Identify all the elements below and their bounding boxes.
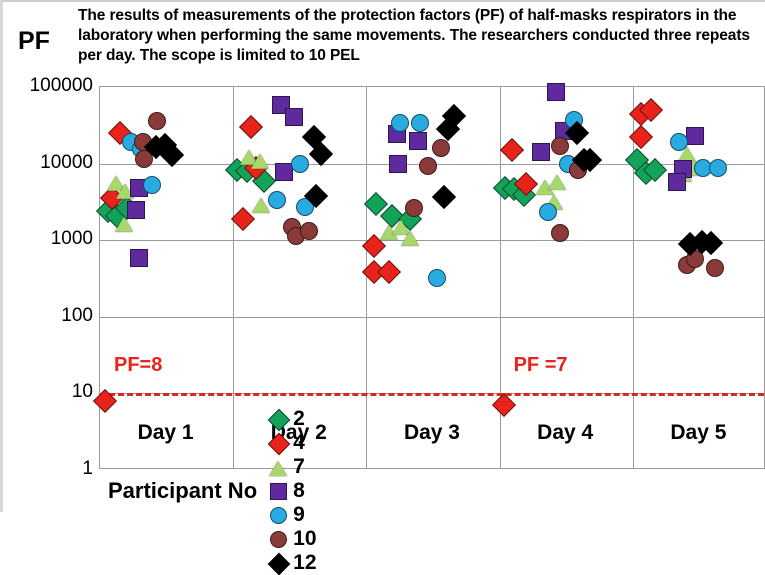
data-point-p9-d3-8 (428, 269, 446, 287)
legend-item-12[interactable]: 12 (269, 551, 316, 575)
legend-swatch-circle-icon (269, 506, 287, 524)
y-tick-1000: 1000 (51, 228, 93, 250)
data-point-p7-d2-4 (251, 154, 269, 169)
legend: Participant No 247891012 (108, 473, 332, 509)
day-separator-1 (233, 87, 234, 468)
data-point-p4-d2-3 (238, 115, 262, 139)
data-point-p10-d3-8 (405, 199, 423, 217)
legend-label-2: 2 (293, 407, 305, 431)
legend-item-4[interactable]: 4 (269, 431, 316, 455)
legend-item-7[interactable]: 7 (269, 455, 316, 479)
legend-title: Participant No (108, 478, 257, 504)
pf-8-annotation: PF=8 (114, 354, 162, 377)
data-point-p4-d2-5 (230, 207, 254, 231)
plot-area: PF=8PF =7 (99, 86, 765, 469)
legend-swatch-diamond-icon (269, 434, 287, 452)
data-point-p9-d1-2 (143, 176, 161, 194)
data-point-p9-d2-4 (268, 191, 286, 209)
chart-root: The results of measurements of the prote… (0, 0, 765, 512)
data-point-p9-d3-7 (411, 114, 429, 132)
data-point-p8-d5-12 (686, 127, 704, 145)
data-point-p8-d4-11 (532, 143, 550, 161)
legend-label-12: 12 (293, 551, 316, 575)
pf-7-annotation: PF =7 (514, 354, 568, 377)
y-tick-100000: 100000 (30, 75, 93, 97)
legend-label-8: 8 (293, 479, 305, 503)
day-label-4: Day 4 (499, 421, 632, 445)
legend-label-9: 9 (293, 503, 305, 527)
data-point-p8-d2-4 (285, 108, 303, 126)
data-point-p10-d3-6 (419, 157, 437, 175)
data-point-p7-d4-10 (548, 175, 566, 190)
legend-swatch-diamond-icon (269, 554, 287, 572)
data-point-p10-d4-9 (551, 137, 569, 155)
legend-item-2[interactable]: 2 (269, 407, 316, 431)
data-point-p9-d2-3 (291, 155, 309, 173)
gridline-100 (100, 317, 764, 318)
data-point-p10-d4-11 (551, 224, 569, 242)
data-point-p9-d3-6 (391, 114, 409, 132)
data-point-p8-d1-1 (127, 201, 145, 219)
y-axis-tick-labels: 110100100010000100000 (0, 0, 93, 512)
gridline-1000 (100, 240, 764, 241)
day-separator-4 (633, 87, 634, 468)
data-point-p4-d1-2 (93, 389, 117, 413)
legend-items: 247891012 (269, 407, 331, 575)
data-point-p4-d3-8 (377, 259, 401, 283)
legend-swatch-triangle-icon (269, 458, 287, 476)
data-point-p4-d4-9 (500, 138, 524, 162)
day-label-5: Day 5 (632, 421, 765, 445)
data-point-p9-d5-12 (670, 133, 688, 151)
legend-item-8[interactable]: 8 (269, 479, 316, 503)
data-point-p8-d4-9 (547, 83, 565, 101)
data-point-p10-d3-7 (432, 139, 450, 157)
data-point-p10-d1-0 (148, 112, 166, 130)
legend-item-10[interactable]: 10 (269, 527, 316, 551)
data-point-p9-d5-14 (709, 159, 727, 177)
data-point-p8-d1-2 (130, 249, 148, 267)
chart-title: The results of measurements of the prote… (78, 6, 758, 65)
data-point-p8-d3-7 (409, 132, 427, 150)
legend-swatch-circle-icon (269, 530, 287, 548)
data-point-p8-d5-14 (668, 173, 686, 191)
data-point-p9-d4-11 (539, 203, 557, 221)
y-tick-10: 10 (72, 381, 93, 403)
legend-swatch-square-icon (269, 482, 287, 500)
threshold-line (100, 393, 764, 396)
data-point-p12-d3-8 (432, 185, 456, 209)
legend-swatch-diamond-icon (269, 410, 287, 428)
day-label-3: Day 3 (365, 421, 498, 445)
legend-label-4: 4 (293, 431, 305, 455)
data-point-p4-d4-11 (492, 393, 516, 417)
data-point-p10-d2-5 (300, 222, 318, 240)
data-point-p8-d3-8 (389, 155, 407, 173)
legend-label-10: 10 (293, 527, 316, 551)
y-tick-1: 1 (82, 458, 93, 480)
data-point-p10-d5-14 (706, 259, 724, 277)
day-label-1: Day 1 (99, 421, 232, 445)
y-tick-10000: 10000 (40, 152, 93, 174)
legend-label-7: 7 (293, 455, 305, 479)
data-point-p7-d3-8 (401, 230, 419, 245)
y-tick-100: 100 (61, 305, 93, 327)
legend-item-9[interactable]: 9 (269, 503, 316, 527)
